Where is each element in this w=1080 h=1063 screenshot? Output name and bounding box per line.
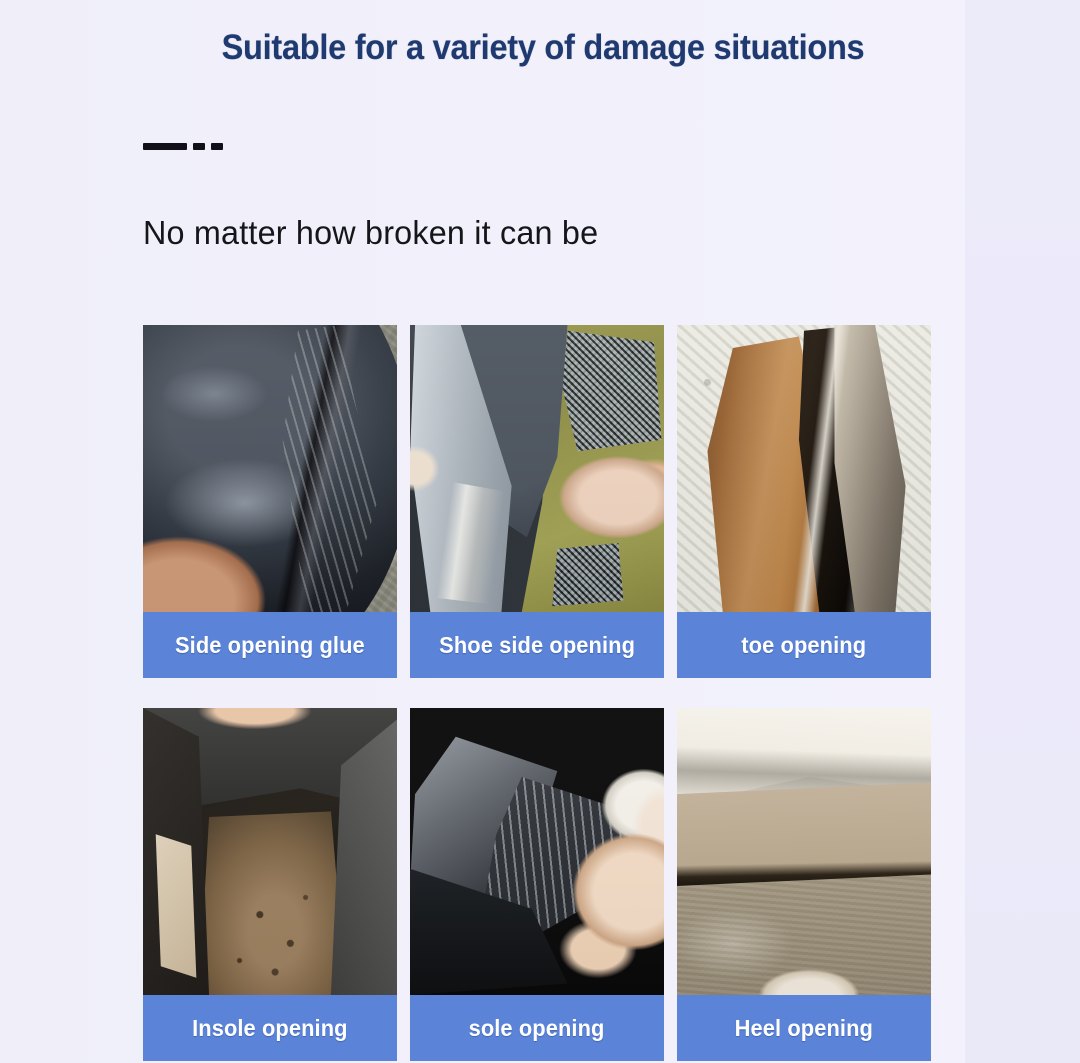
divider-dash-short-1 bbox=[193, 143, 205, 150]
caption-label: Insole opening bbox=[192, 1015, 348, 1042]
caption-bar-heel-opening: Heel opening bbox=[677, 995, 931, 1061]
caption-label: toe opening bbox=[742, 632, 867, 659]
caption-label: Heel opening bbox=[735, 1015, 873, 1042]
photo-sole-opening bbox=[410, 708, 664, 995]
photo-toe-opening bbox=[677, 325, 931, 612]
damage-situations-gallery: Side opening glue Shoe side opening bbox=[143, 325, 937, 1061]
divider-dash-long bbox=[143, 143, 187, 150]
gallery-item-heel-opening[interactable]: Heel opening bbox=[677, 708, 931, 1061]
photo-shoe-side-opening bbox=[410, 325, 664, 612]
gallery-item-insole-opening[interactable]: Insole opening bbox=[143, 708, 397, 1061]
caption-bar-sole-opening: sole opening bbox=[410, 995, 664, 1061]
gallery-item-shoe-side-opening[interactable]: Shoe side opening bbox=[410, 325, 664, 678]
divider-dash-short-2 bbox=[211, 143, 223, 150]
dash-divider bbox=[143, 143, 223, 150]
product-detail-page: Suitable for a variety of damage situati… bbox=[0, 0, 1080, 1063]
caption-bar-toe-opening: toe opening bbox=[677, 612, 931, 678]
caption-bar-shoe-side-opening: Shoe side opening bbox=[410, 612, 664, 678]
gallery-item-side-opening-glue[interactable]: Side opening glue bbox=[143, 325, 397, 678]
caption-label: Side opening glue bbox=[175, 632, 365, 659]
photo-heel-opening bbox=[677, 708, 931, 995]
page-subtitle: No matter how broken it can be bbox=[143, 214, 598, 252]
gallery-item-sole-opening[interactable]: sole opening bbox=[410, 708, 664, 1061]
caption-label: sole opening bbox=[469, 1015, 605, 1042]
caption-label: Shoe side opening bbox=[439, 632, 635, 659]
photo-side-opening-glue bbox=[143, 325, 397, 612]
page-title: Suitable for a variety of damage situati… bbox=[171, 20, 915, 76]
caption-bar-insole-opening: Insole opening bbox=[143, 995, 397, 1061]
caption-bar-side-opening-glue: Side opening glue bbox=[143, 612, 397, 678]
gallery-item-toe-opening[interactable]: toe opening bbox=[677, 325, 931, 678]
photo-insole-opening bbox=[143, 708, 397, 995]
